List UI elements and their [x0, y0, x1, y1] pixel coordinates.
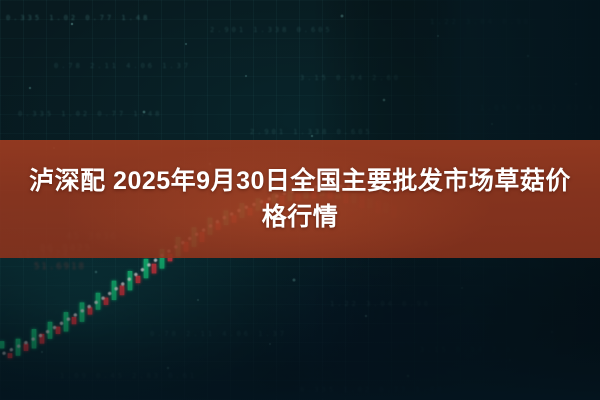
headline-line-1: 泸深配 2025年9月30日全国主要批发市场草菇价	[13, 164, 587, 199]
headline-line-2: 格行情	[262, 200, 339, 235]
page-title: 泸深配 2025年9月30日全国主要批发市场草菇价 格行情	[0, 140, 600, 258]
banner-image: 0.335 1.02 0.77 1.48 2.901 1.338 0.605 1…	[0, 0, 600, 400]
